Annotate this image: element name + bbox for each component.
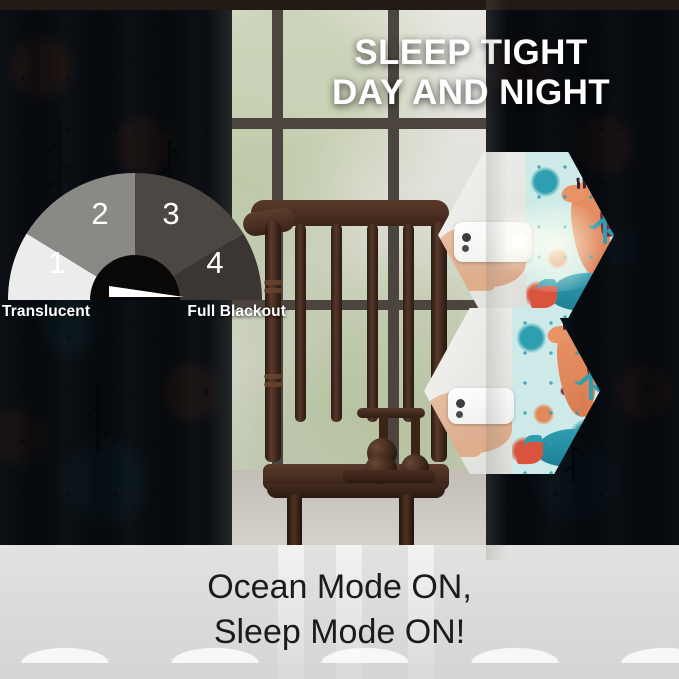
phone-camera-lens bbox=[462, 233, 471, 242]
caption-line-1: Ocean Mode ON, bbox=[0, 565, 679, 610]
chair-spindle bbox=[367, 224, 378, 422]
caption-band: Ocean Mode ON, Sleep Mode ON! bbox=[0, 545, 679, 679]
gauge-number-2: 2 bbox=[91, 196, 108, 231]
crab-claw-motif bbox=[531, 286, 557, 308]
gauge-svg: 1 2 3 4 bbox=[8, 173, 262, 301]
chair-post bbox=[265, 222, 281, 462]
chair-turning-ring bbox=[264, 374, 282, 379]
phone-camera-lens bbox=[456, 399, 465, 408]
sculpture-stem bbox=[411, 416, 420, 458]
caption-text: Ocean Mode ON, Sleep Mode ON! bbox=[0, 565, 679, 655]
caption-line-2: Sleep Mode ON! bbox=[0, 610, 679, 655]
headline-line-2: DAY AND NIGHT bbox=[271, 73, 671, 113]
window-mullion bbox=[196, 118, 488, 129]
phone-flash-icon bbox=[512, 235, 525, 248]
decor-sculpture bbox=[335, 398, 443, 480]
phone-camera-lens bbox=[456, 411, 463, 418]
chair-spindle bbox=[331, 224, 342, 422]
product-marketing-image: SLEEP TIGHT DAY AND NIGHT 1 2 3 4 Transl… bbox=[0, 0, 679, 679]
phone-camera-lens bbox=[462, 245, 469, 252]
chair-turning-ring bbox=[264, 288, 282, 293]
gauge-label-full-blackout: Full Blackout bbox=[187, 303, 286, 329]
gauge-number-1: 1 bbox=[48, 245, 65, 280]
blackout-level-gauge: 1 2 3 4 bbox=[8, 173, 262, 301]
gauge-number-3: 3 bbox=[162, 196, 179, 231]
curtain-rod bbox=[0, 0, 679, 10]
gauge-number-4: 4 bbox=[206, 245, 223, 280]
chair-turning-ring bbox=[264, 382, 282, 387]
chair-turning-ring bbox=[264, 280, 282, 285]
headline: SLEEP TIGHT DAY AND NIGHT bbox=[271, 33, 671, 112]
headline-line-1: SLEEP TIGHT bbox=[271, 33, 671, 73]
chair-spindle bbox=[403, 224, 414, 422]
gauge-label-translucent: Translucent bbox=[2, 303, 90, 329]
sculpture-base bbox=[343, 470, 435, 483]
gauge-labels: Translucent Full Blackout bbox=[0, 303, 288, 329]
chair-spindle bbox=[295, 224, 306, 422]
crab-claw-motif bbox=[517, 442, 543, 464]
